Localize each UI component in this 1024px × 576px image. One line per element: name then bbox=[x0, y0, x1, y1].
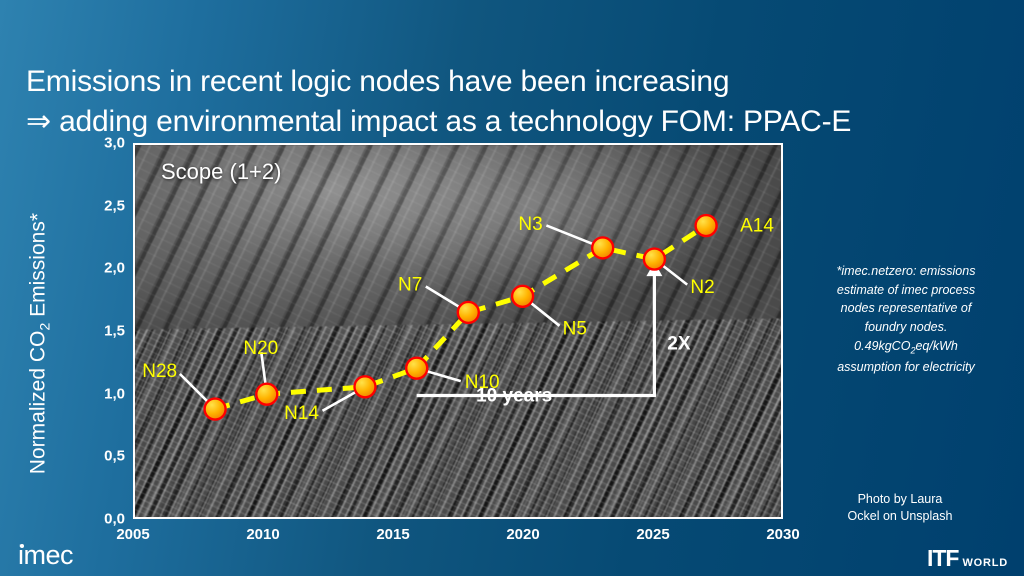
annotation-growth-factor: 2X bbox=[667, 334, 691, 355]
data-label-a14: A14 bbox=[740, 216, 774, 237]
y-axis-tick-label: 2,5 bbox=[65, 197, 125, 214]
title-line-2: ⇒ adding environmental impact as a techn… bbox=[26, 102, 1016, 142]
leader-line bbox=[323, 390, 359, 411]
footnote-line-1: *imec.netzero: emissions bbox=[837, 264, 976, 278]
x-axis-tick-label: 2015 bbox=[376, 526, 409, 543]
footnote-text: *imec.netzero: emissions estimate of ime… bbox=[800, 243, 1012, 377]
data-point-n7[interactable] bbox=[458, 302, 479, 323]
scope-label: Scope (1+2) bbox=[161, 159, 281, 185]
itf-logo-text: ITF bbox=[927, 545, 959, 571]
data-label-n5: N5 bbox=[563, 318, 587, 339]
data-label-n7: N7 bbox=[398, 274, 422, 295]
photo-credit-line-2: Ockel on Unsplash bbox=[848, 509, 953, 523]
y-axis-tick-label: 2,0 bbox=[65, 260, 125, 277]
leader-line bbox=[660, 263, 687, 284]
x-axis-tick-label: 2030 bbox=[766, 526, 799, 543]
imec-logo: imec bbox=[18, 540, 73, 571]
x-axis-tick-label: 2005 bbox=[116, 526, 149, 543]
data-point-n20[interactable] bbox=[256, 384, 277, 405]
y-axis-tick-label: 3,0 bbox=[65, 135, 125, 152]
y-axis-ticks: 0,00,51,01,52,02,53,0 bbox=[63, 0, 125, 576]
data-label-n3: N3 bbox=[518, 214, 542, 235]
imec-logo-text: imec bbox=[18, 540, 73, 570]
title-line-1: Emissions in recent logic nodes have bee… bbox=[26, 65, 729, 98]
y-axis-tick-label: 1,0 bbox=[65, 385, 125, 402]
photo-credit: Photo by Laura Ockel on Unsplash bbox=[800, 474, 1000, 525]
itf-world-text: WORLD bbox=[962, 557, 1008, 569]
data-point-n28[interactable] bbox=[205, 399, 226, 420]
x-axis-ticks: 200520102015202020252030 bbox=[0, 526, 1024, 550]
data-label-n2: N2 bbox=[690, 277, 714, 298]
y-axis-tick-label: 0,5 bbox=[65, 448, 125, 465]
itf-world-logo: ITFWORLD bbox=[927, 545, 1008, 572]
footnote-line-4: foundry nodes. bbox=[865, 320, 948, 334]
footnote-line-6: assumption for electricity bbox=[837, 360, 975, 374]
data-point-n3[interactable] bbox=[592, 237, 613, 258]
data-point-a14[interactable] bbox=[696, 215, 717, 236]
leader-line bbox=[180, 374, 210, 404]
annotation-time-span: 10 years bbox=[476, 386, 552, 407]
data-label-n14: N14 bbox=[284, 403, 319, 424]
y-axis-tick-label: 0,0 bbox=[65, 511, 125, 528]
footnote-line-5: 0.49kgCO2eq/kWh bbox=[854, 339, 958, 353]
chart-plot-area: Scope (1+2) N28N20N14N10N7N5N3N2A142X10 … bbox=[133, 143, 783, 519]
data-point-n2[interactable] bbox=[644, 249, 665, 270]
footnote-line-2: estimate of imec process bbox=[837, 283, 975, 297]
data-point-n5[interactable] bbox=[512, 286, 533, 307]
leader-line bbox=[423, 370, 460, 381]
x-axis-tick-label: 2025 bbox=[636, 526, 669, 543]
leader-line bbox=[528, 301, 559, 326]
photo-credit-line-1: Photo by Laura bbox=[858, 492, 943, 506]
x-axis-tick-label: 2010 bbox=[246, 526, 279, 543]
leader-line bbox=[426, 287, 463, 309]
data-point-n14[interactable] bbox=[355, 376, 376, 397]
y-axis-tick-label: 1,5 bbox=[65, 323, 125, 340]
y-axis-title: Normalized CO2 Emissions* bbox=[26, 174, 53, 514]
data-label-n28: N28 bbox=[142, 361, 177, 382]
data-point-n10[interactable] bbox=[406, 358, 427, 379]
footnote-line-3: nodes representative of bbox=[841, 301, 972, 315]
x-axis-tick-label: 2020 bbox=[506, 526, 539, 543]
chart-overlay: N28N20N14N10N7N5N3N2A142X10 years bbox=[135, 145, 781, 517]
data-label-n20: N20 bbox=[243, 338, 278, 359]
growth-bracket bbox=[417, 273, 655, 395]
leader-line bbox=[546, 225, 596, 245]
imec-logo-dot bbox=[20, 544, 24, 548]
